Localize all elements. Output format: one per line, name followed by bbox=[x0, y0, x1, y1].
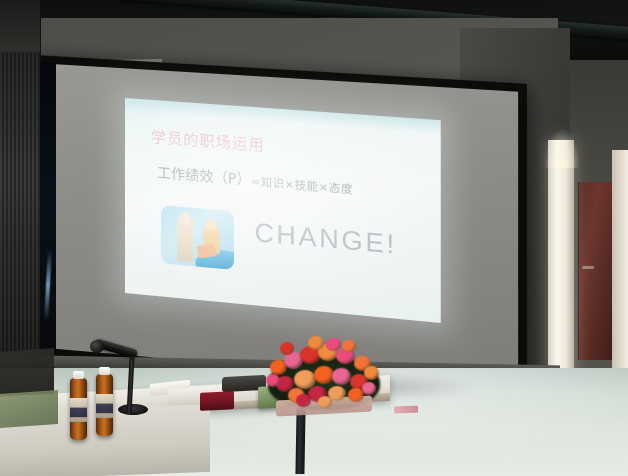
flower-arrangement bbox=[262, 330, 387, 412]
slide-formula-prefix: 工作绩效（P） bbox=[157, 166, 251, 190]
microphone-base bbox=[118, 404, 148, 415]
photo-scene: 学员的职场运用 工作绩效（P）=知识×技能×态度 CHANGE! bbox=[0, 0, 628, 476]
lit-pillar bbox=[548, 140, 574, 378]
flower-petal bbox=[266, 374, 280, 387]
left-wall-top bbox=[0, 0, 40, 52]
pillar-uplight-glow bbox=[544, 128, 580, 168]
flower-petal bbox=[326, 338, 341, 351]
flower-petal bbox=[362, 382, 376, 395]
flower-petal bbox=[318, 396, 332, 408]
projected-slide: 学员的职场运用 工作绩效（P）=知识×技能×态度 CHANGE! bbox=[125, 98, 441, 323]
illustration-head-right bbox=[205, 219, 216, 231]
slide-formula: 工作绩效（P）=知识×技能×态度 bbox=[157, 162, 353, 198]
slide-formula-suffix: =知识×技能×态度 bbox=[251, 175, 353, 196]
illustration-head-left bbox=[179, 212, 191, 225]
slide-title: 学员的职场运用 bbox=[151, 126, 265, 156]
bottle-label-left bbox=[70, 398, 87, 422]
slide-illustration bbox=[161, 205, 234, 270]
flower-petal bbox=[364, 366, 379, 380]
bottle-cap-right[interactable] bbox=[99, 367, 110, 375]
flower-petal bbox=[342, 340, 356, 352]
illustration-book bbox=[196, 244, 216, 258]
green-mat bbox=[0, 390, 58, 428]
flower-petal bbox=[280, 342, 294, 355]
flower-petal bbox=[308, 336, 324, 350]
maroon-box[interactable] bbox=[200, 391, 234, 411]
slide-change-text: CHANGE! bbox=[255, 217, 397, 261]
table-leg bbox=[295, 408, 305, 474]
flower-petal bbox=[332, 368, 351, 385]
flower-petal bbox=[314, 366, 334, 384]
lit-pillar-far bbox=[612, 150, 628, 372]
bottle-cap-left[interactable] bbox=[73, 371, 84, 379]
door-handle-icon[interactable] bbox=[582, 266, 594, 269]
flower-petal bbox=[296, 394, 311, 407]
pink-strip-object bbox=[394, 406, 418, 414]
bottle-label-right bbox=[96, 394, 113, 418]
microphone-head[interactable] bbox=[90, 340, 104, 353]
